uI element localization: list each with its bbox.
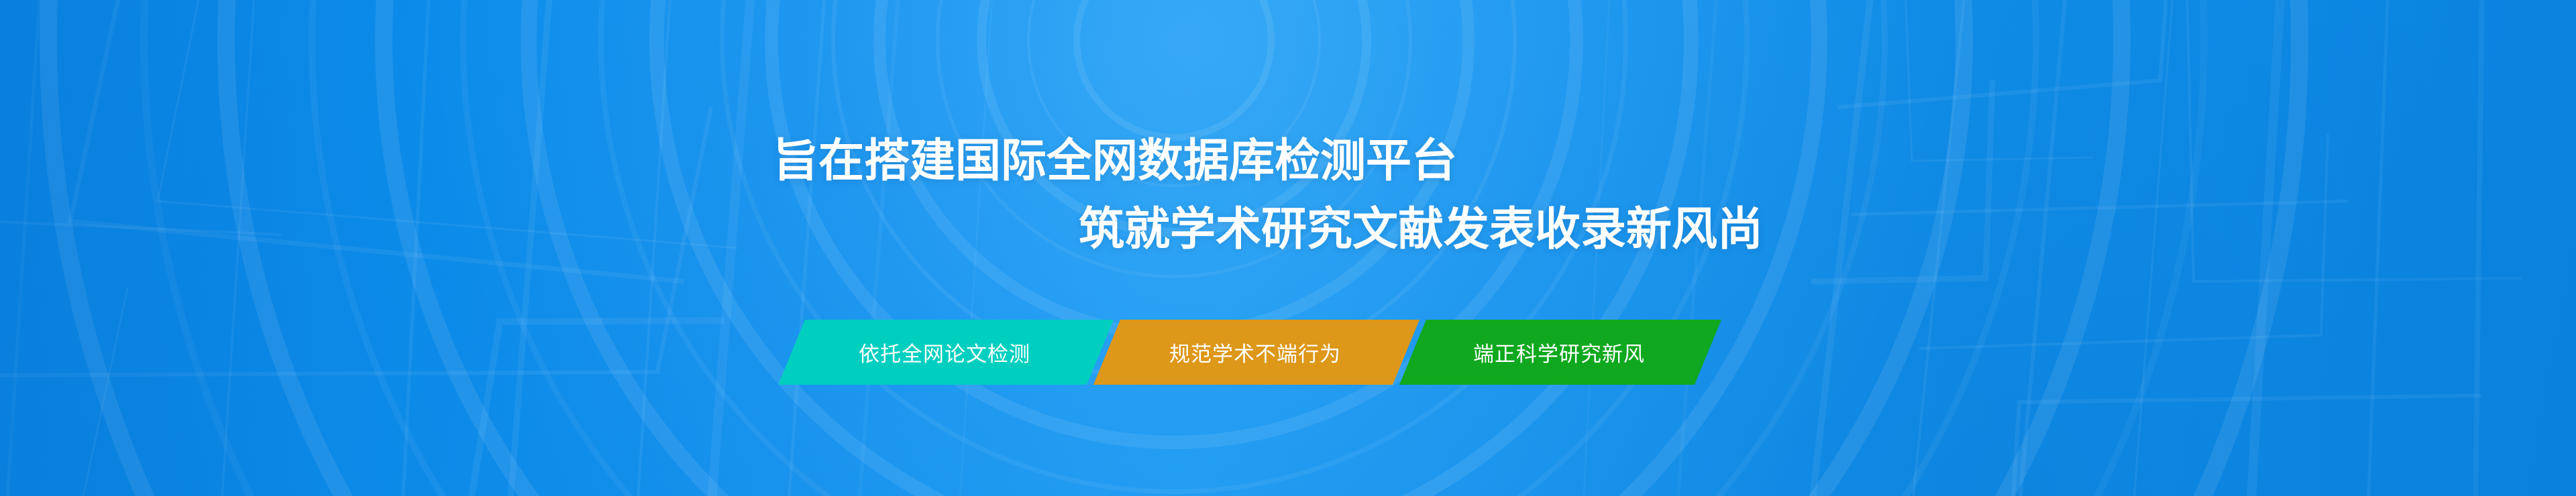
feature-tab-research-ethos[interactable]: 端正科学研究新风 xyxy=(1399,320,1721,385)
feature-tab-strip: 依托全网论文检测 规范学术不端行为 端正科学研究新风 xyxy=(778,320,1721,385)
feature-tab-academic-misconduct[interactable]: 规范学术不端行为 xyxy=(1093,320,1419,385)
feature-tab-label: 依托全网论文检测 xyxy=(859,337,1030,367)
feature-tab-paper-detection[interactable]: 依托全网论文检测 xyxy=(778,320,1114,385)
background-vignette xyxy=(0,0,2576,496)
feature-tab-label: 端正科学研究新风 xyxy=(1473,337,1645,367)
feature-tab-label: 规范学术不端行为 xyxy=(1169,337,1341,367)
hero-banner: 旨在搭建国际全网数据库检测平台 筑就学术研究文献发表收录新风尚 依托全网论文检测… xyxy=(0,0,2576,496)
